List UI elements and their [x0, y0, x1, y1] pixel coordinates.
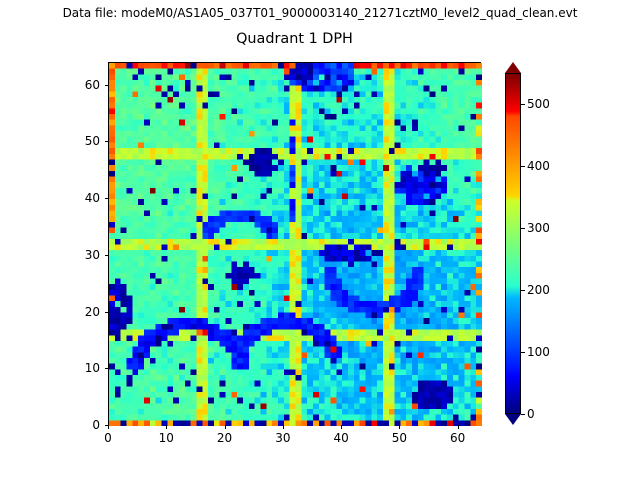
- colorbar[interactable]: [505, 62, 521, 425]
- y-tick-label: 0: [92, 418, 100, 432]
- y-tick-label: 10: [85, 361, 100, 375]
- y-tick-label: 30: [85, 248, 100, 262]
- colorbar-tick-label: 400: [527, 159, 550, 173]
- colorbar-tick-label: 500: [527, 97, 550, 111]
- colorbar-body: [505, 73, 521, 414]
- colorbar-gradient: [506, 74, 520, 413]
- x-tick-label: 10: [146, 431, 186, 445]
- colorbar-tick: [521, 352, 525, 353]
- colorbar-extend-max-arrow: [505, 62, 521, 73]
- colorbar-tick: [521, 414, 525, 415]
- y-tick-label: 60: [85, 78, 100, 92]
- colorbar-tick: [521, 104, 525, 105]
- x-tick-label: 40: [321, 431, 361, 445]
- y-tick: [105, 85, 109, 86]
- y-tick-label-wrap: 10: [60, 361, 100, 375]
- y-tick-label-wrap: 30: [60, 248, 100, 262]
- y-tick-label: 40: [85, 191, 100, 205]
- y-tick-label-wrap: 50: [60, 134, 100, 148]
- colorbar-extend-min-arrow: [505, 414, 521, 425]
- x-tick-label: 50: [379, 431, 419, 445]
- colorbar-tick-label: 300: [527, 221, 550, 235]
- y-tick: [105, 425, 109, 426]
- x-tick: [283, 425, 284, 429]
- x-tick: [108, 425, 109, 429]
- y-tick: [105, 312, 109, 313]
- x-tick: [341, 425, 342, 429]
- y-tick-label: 50: [85, 134, 100, 148]
- y-tick-label-wrap: 0: [60, 418, 100, 432]
- x-tick-label: 30: [263, 431, 303, 445]
- colorbar-tick-label: 100: [527, 345, 550, 359]
- colorbar-tick-label: 0: [527, 407, 535, 421]
- y-tick-label-wrap: 40: [60, 191, 100, 205]
- colorbar-tick-label: 200: [527, 283, 550, 297]
- axes-title: Quadrant 1 DPH: [108, 31, 481, 47]
- colorbar-tick: [521, 290, 525, 291]
- matplotlib-figure: Data file: modeM0/AS1A05_037T01_90000031…: [0, 0, 640, 480]
- y-tick-label-wrap: 20: [60, 305, 100, 319]
- y-tick: [105, 255, 109, 256]
- y-tick: [105, 141, 109, 142]
- y-tick: [105, 368, 109, 369]
- heatmap-axes[interactable]: [108, 62, 481, 425]
- x-tick: [166, 425, 167, 429]
- colorbar-tick: [521, 166, 525, 167]
- x-tick-label: 60: [438, 431, 478, 445]
- x-tick-label: 0: [88, 431, 128, 445]
- x-tick: [458, 425, 459, 429]
- figure-suptitle: Data file: modeM0/AS1A05_037T01_90000031…: [0, 6, 640, 20]
- x-tick: [399, 425, 400, 429]
- y-tick: [105, 198, 109, 199]
- y-tick-label-wrap: 60: [60, 78, 100, 92]
- x-tick: [225, 425, 226, 429]
- y-tick-label: 20: [85, 305, 100, 319]
- x-tick-label: 20: [205, 431, 245, 445]
- colorbar-tick: [521, 228, 525, 229]
- heatmap-image[interactable]: [109, 63, 482, 426]
